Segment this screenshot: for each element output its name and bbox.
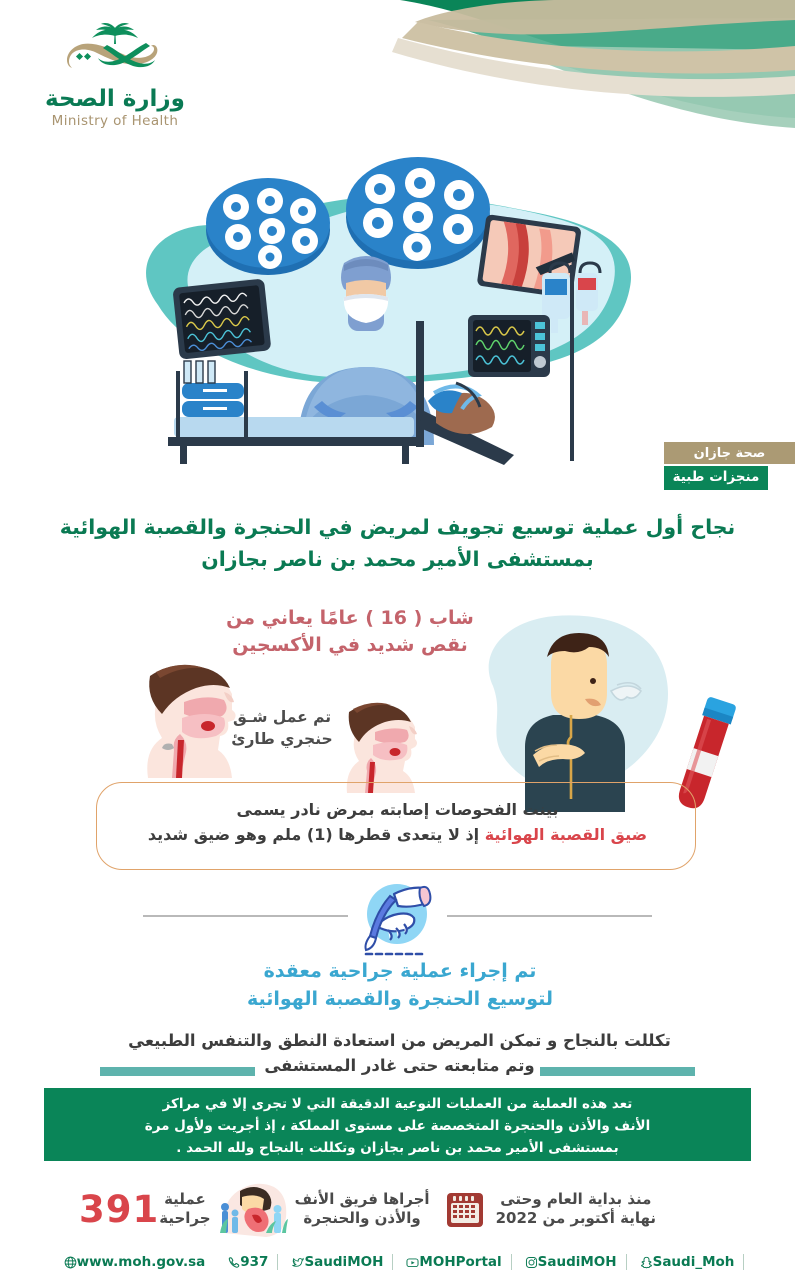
surgery-line-1: تم إجراء عملية جراحية معقدة	[180, 958, 620, 986]
conclusion-line-2: الأنف والأذن والحنجرة المتخصصة على مستوى…	[60, 1116, 735, 1138]
statistic-team: أجراها فريق الأنف والأذن والحنجرة	[295, 1190, 430, 1228]
infographic-page: وزارة الصحة Ministry of Health	[0, 0, 795, 1280]
social-snapchat[interactable]: Saudi_Moh	[627, 1254, 745, 1270]
instagram-icon	[525, 1256, 538, 1269]
tracheostomy-line-2: حنجري طارئ	[222, 728, 342, 750]
surgery-line-2: لتوسيع الحنجرة والقصبة الهوائية	[180, 986, 620, 1014]
patient-line-1: شاب ( 16 ) عامًا يعاني من	[180, 605, 520, 632]
outcome-line-1: تكللت بالنجاح و تمكن المريض من استعادة ا…	[62, 1029, 737, 1054]
patient-description: شاب ( 16 ) عامًا يعاني من نقص شديد في ال…	[180, 605, 520, 658]
social-youtube-label: MOHPortal	[419, 1254, 501, 1270]
social-snapchat-label: Saudi_Moh	[653, 1254, 735, 1270]
divider-left	[143, 915, 348, 917]
headline-line-1: نجاح أول عملية توسيع تجويف لمريض في الحن…	[0, 512, 795, 544]
twitter-icon	[291, 1256, 304, 1269]
teal-accent-bar-right	[540, 1067, 695, 1076]
statistic-period-line-1: منذ بداية العام وحتى	[496, 1190, 656, 1209]
conclusion-text: تعد هذه العملية من العمليات النوعية الدق…	[60, 1094, 735, 1160]
headline-line-2: بمستشفى الأمير محمد بن ناصر بجازان	[0, 544, 795, 576]
statistic-period-line-2: نهاية أكتوبر من 2022	[496, 1209, 656, 1228]
statistic-team-line-2: والأذن والحنجرة	[295, 1209, 430, 1228]
operating-room-illustration	[118, 155, 678, 465]
diagnosis-line-2: ضيق القصبة الهوائية إذ لا يتعدى قطرها (1…	[110, 823, 685, 848]
divider-right	[447, 915, 652, 917]
social-twitter[interactable]: SaudiMOH	[278, 1254, 393, 1270]
statistic-period: منذ بداية العام وحتى نهاية أكتوبر من 202…	[496, 1190, 656, 1228]
youtube-icon	[406, 1256, 419, 1269]
statistic-label-line-1: عملية	[159, 1190, 210, 1209]
moh-logo-mark	[55, 22, 175, 84]
diagnosis-line-1: بينت الفحوصات إصابته بمرض نادر يسمى	[110, 798, 685, 823]
logo-english-text: Ministry of Health	[30, 113, 200, 129]
scalpel-hand-icon	[350, 876, 445, 964]
conclusion-line-1: تعد هذه العملية من العمليات النوعية الدق…	[60, 1094, 735, 1116]
globe-icon	[64, 1256, 77, 1269]
snapchat-icon	[640, 1256, 653, 1269]
social-instagram[interactable]: SaudiMOH	[512, 1254, 627, 1270]
teal-accent-bar-left	[100, 1067, 255, 1076]
diagnosis-highlight: ضيق القصبة الهوائية	[485, 825, 647, 844]
phone-icon	[227, 1256, 240, 1269]
conclusion-line-3: بمستشفى الأمير محمد بن ناصر بجازان وتكلل…	[60, 1138, 735, 1160]
statistic-label-line-2: جراحية	[159, 1209, 210, 1228]
statistic-team-line-1: أجراها فريق الأنف	[295, 1190, 430, 1209]
social-youtube[interactable]: MOHPortal	[393, 1254, 511, 1270]
surgery-description: تم إجراء عملية جراحية معقدة لتوسيع الحنج…	[180, 958, 620, 1013]
social-twitter-label: SaudiMOH	[304, 1254, 383, 1270]
calendar-icon	[445, 1189, 485, 1229]
moh-logo: وزارة الصحة Ministry of Health	[30, 22, 200, 129]
social-website-label: www.moh.gov.sa	[77, 1254, 206, 1270]
statistic-count: 391	[79, 1188, 159, 1231]
badge-region: صحة جازان	[664, 442, 795, 464]
ent-team-illustration	[218, 1181, 288, 1237]
social-website[interactable]: www.moh.gov.sa	[51, 1254, 215, 1270]
statistics-row: 391 عملية جراحية	[70, 1178, 730, 1240]
logo-arabic-text: وزارة الصحة	[30, 86, 200, 112]
diagnosis-text: بينت الفحوصات إصابته بمرض نادر يسمى ضيق …	[110, 798, 685, 848]
airway-anatomy-head-small	[333, 700, 425, 795]
tracheostomy-caption: تم عمل شـق حنجري طارئ	[222, 706, 342, 751]
tracheostomy-line-1: تم عمل شـق	[222, 706, 342, 728]
social-instagram-label: SaudiMOH	[538, 1254, 617, 1270]
diagnosis-line-2-rest: إذ لا يتعدى قطرها (1) ملم وهو ضيق شديد	[148, 825, 485, 844]
social-phone[interactable]: 937	[214, 1254, 278, 1270]
social-footer: www.moh.gov.sa 937 SaudiMOH MOHPortal	[0, 1250, 795, 1274]
page-title: نجاح أول عملية توسيع تجويف لمريض في الحن…	[0, 512, 795, 576]
patient-line-2: نقص شديد في الأكسجين	[180, 632, 520, 659]
social-phone-label: 937	[240, 1254, 268, 1270]
badge-category: منجزات طبية	[664, 466, 768, 490]
statistic-label: عملية جراحية	[159, 1190, 210, 1228]
